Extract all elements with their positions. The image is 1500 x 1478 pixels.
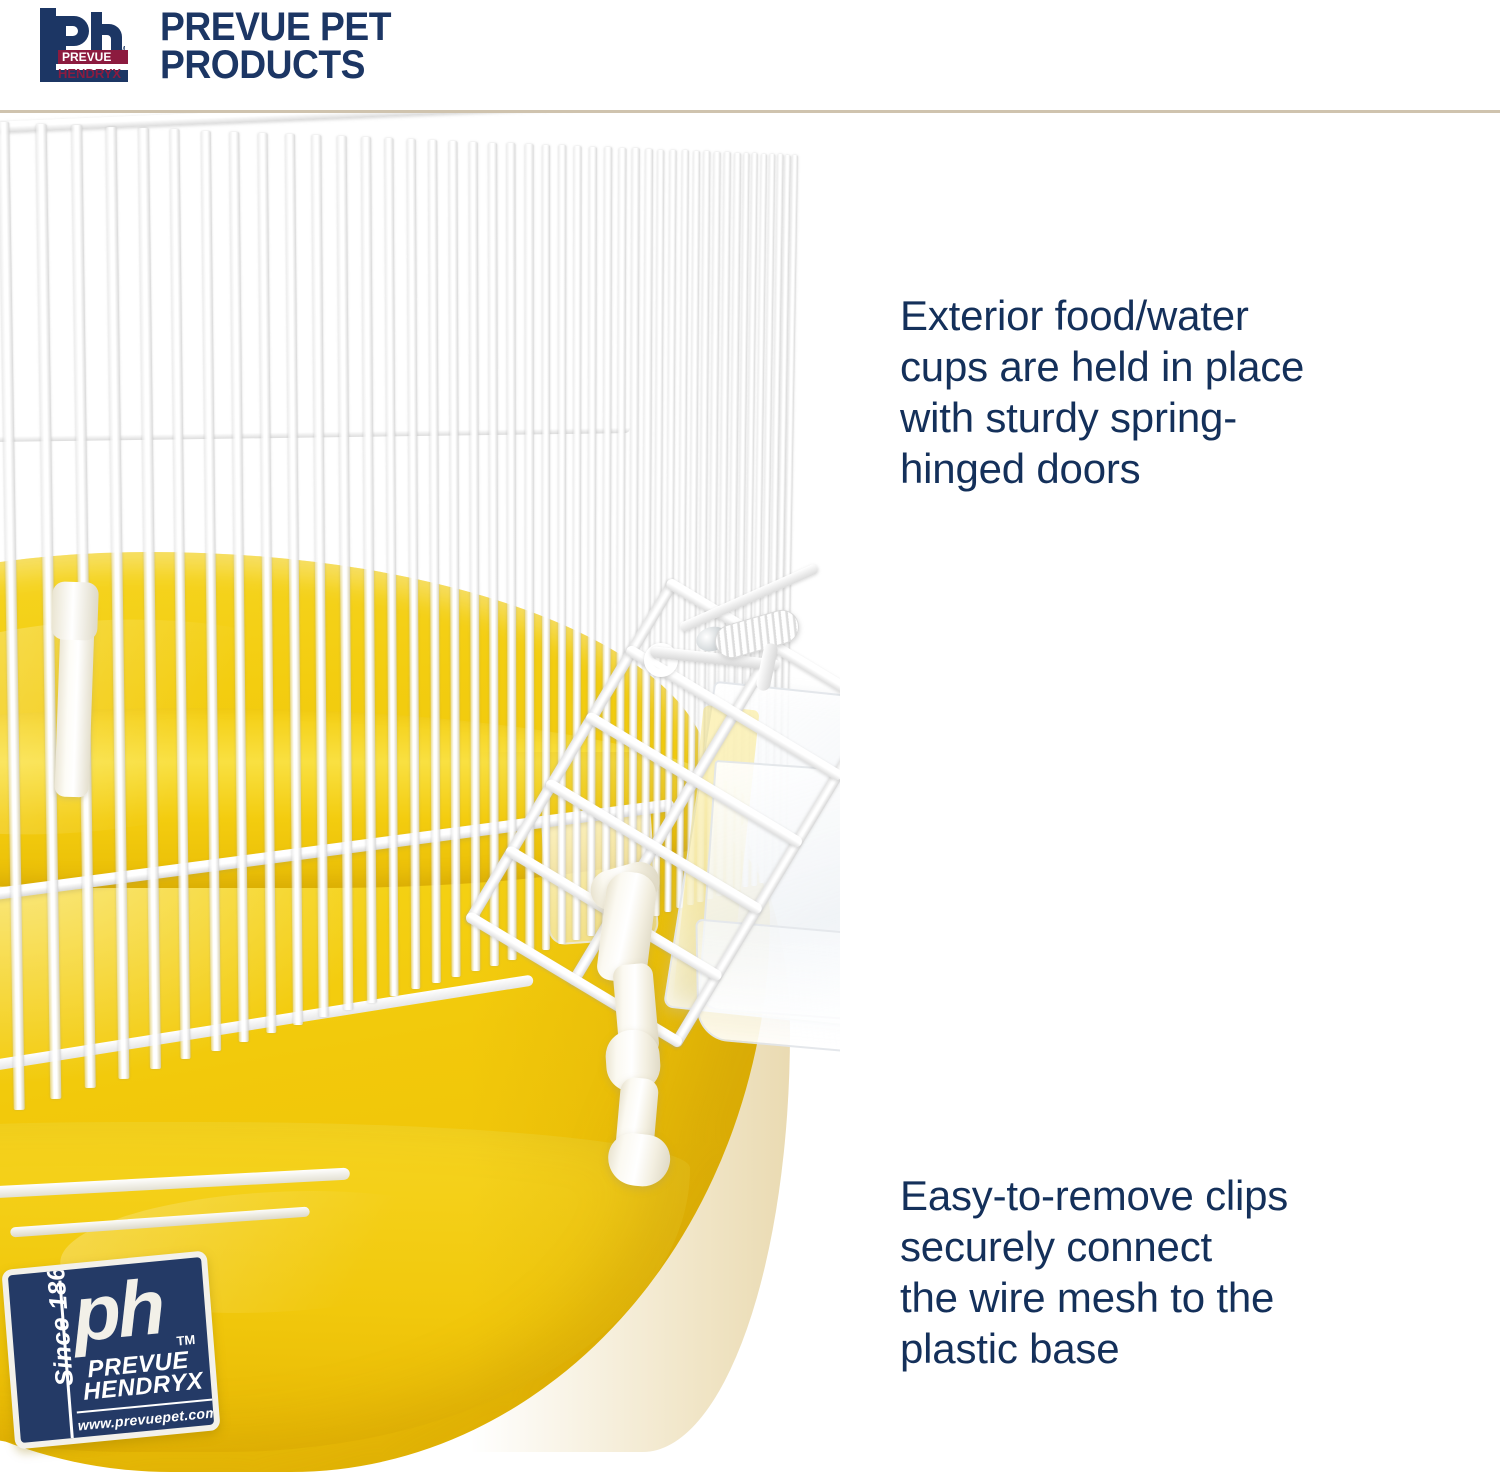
cage-bar	[170, 129, 191, 1059]
cage-bar	[449, 141, 461, 977]
prevue-hendryx-logo: TM PREVUE HENDRYX	[36, 6, 132, 84]
cage-bar	[311, 135, 328, 1017]
cage-bar	[428, 140, 441, 983]
header-divider	[0, 110, 1500, 113]
cage-bar	[138, 128, 160, 1069]
cage-rail-top	[0, 112, 790, 133]
clip-left-head	[51, 581, 99, 641]
easy-remove-clip	[592, 872, 704, 1182]
cage-bar	[406, 139, 420, 989]
svg-text:HENDRYX: HENDRYX	[58, 66, 121, 81]
cage-bar	[0, 122, 25, 1110]
cage-bar	[337, 136, 353, 1010]
prevue-hendryx-logo-svg: TM PREVUE HENDRYX	[36, 6, 132, 84]
brand-wordmark: PREVUE PET PRODUCTS	[160, 8, 391, 84]
cage-bar	[200, 131, 221, 1051]
cage-bar	[285, 134, 303, 1025]
svg-text:PREVUE: PREVUE	[62, 50, 111, 64]
cage-bar	[488, 143, 498, 966]
brand-header: TM PREVUE HENDRYX PREVUE PET PRODUCTS	[0, 0, 1500, 112]
base-brand-badge: Since 1869 ph TM PREVUE HENDRYX www.prev…	[1, 1250, 220, 1449]
clip-foot	[605, 1131, 672, 1189]
callout-easy-remove-clips: Easy-to-remove clips securely connect th…	[900, 1170, 1410, 1374]
cage-bar	[258, 133, 277, 1033]
badge-ph-mark: ph	[70, 1267, 165, 1353]
cage-bar	[384, 138, 398, 996]
product-photo: Since 1869 ph TM PREVUE HENDRYX www.prev…	[0, 112, 1500, 1478]
cage-bar	[105, 127, 128, 1079]
cage-bar	[230, 132, 250, 1042]
callout-exterior-cups: Exterior food/water cups are held in pla…	[900, 290, 1410, 494]
cage-bar	[469, 142, 480, 971]
cage-bar	[361, 137, 376, 1003]
